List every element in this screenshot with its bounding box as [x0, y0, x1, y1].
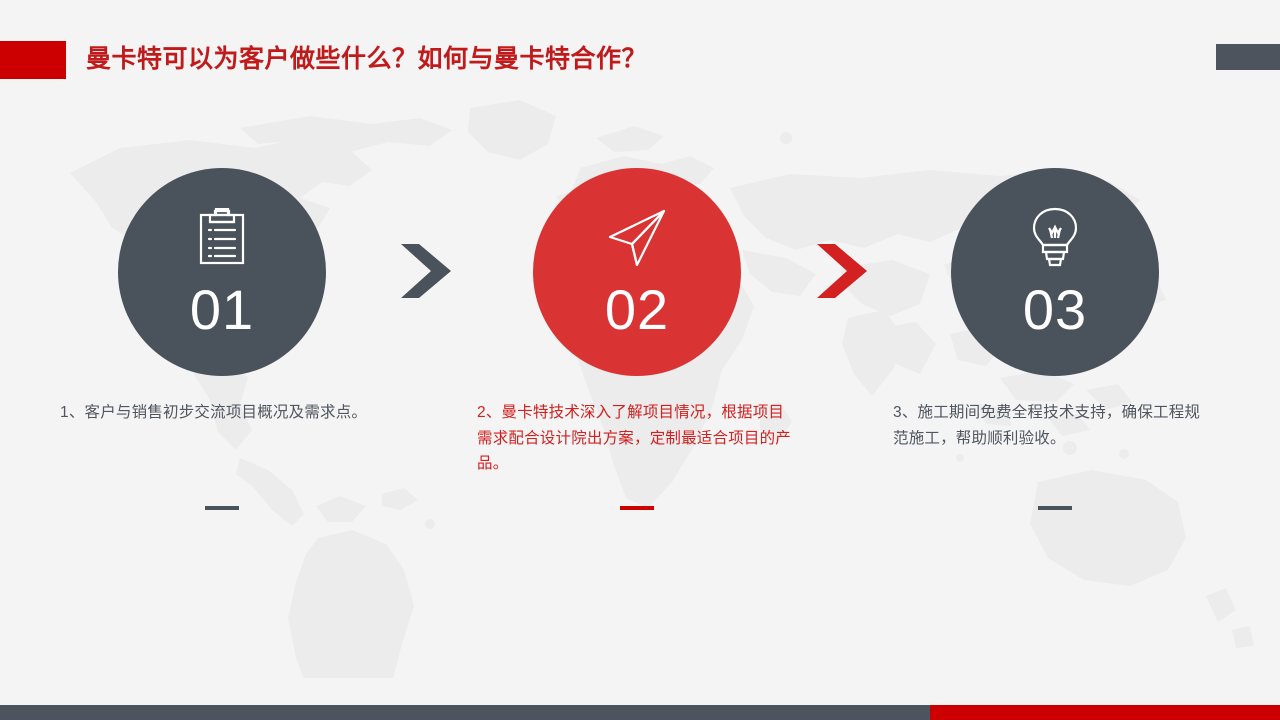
- paper-plane-icon: [601, 200, 673, 276]
- title-accent-block: [0, 41, 66, 79]
- step-description-01: 1、客户与销售初步交流项目概况及需求点。: [60, 400, 380, 426]
- footer-bar-dark-segment: [0, 705, 930, 720]
- step-number-02: 02: [605, 282, 669, 338]
- step-item-01[interactable]: 01: [118, 168, 326, 376]
- clipboard-checklist-icon: [186, 200, 258, 276]
- step-item-02[interactable]: 02: [533, 168, 741, 376]
- step-description-03: 3、施工期间免费全程技术支持，确保工程规范施工，帮助顺利验收。: [893, 400, 1213, 451]
- chevron-right-icon: [809, 238, 875, 304]
- page-title: 曼卡特可以为客户做些什么？如何与曼卡特合作？: [86, 40, 647, 78]
- lightbulb-icon: [1019, 200, 1091, 276]
- step-divider-dash-01: [205, 506, 239, 510]
- step-number-03: 03: [1023, 282, 1087, 338]
- step-circle-01[interactable]: 01: [118, 168, 326, 376]
- slide-title-bar: 曼卡特可以为客户做些什么？如何与曼卡特合作？: [0, 41, 1280, 79]
- footer-bar: [0, 705, 1280, 720]
- title-right-decoration: [1216, 44, 1280, 70]
- step-item-03[interactable]: 03: [951, 168, 1159, 376]
- step-divider-dash-02: [620, 506, 654, 510]
- step-number-01: 01: [190, 282, 254, 338]
- step-circle-03[interactable]: 03: [951, 168, 1159, 376]
- step-circle-02[interactable]: 02: [533, 168, 741, 376]
- step-divider-dash-03: [1038, 506, 1072, 510]
- chevron-right-icon: [393, 238, 459, 304]
- step-description-02: 2、曼卡特技术深入了解项目情况，根据项目需求配合设计院出方案，定制最适合项目的产…: [477, 400, 797, 477]
- footer-bar-red-segment: [930, 705, 1280, 720]
- slide-canvas: 曼卡特可以为客户做些什么？如何与曼卡特合作？ 01: [0, 0, 1280, 720]
